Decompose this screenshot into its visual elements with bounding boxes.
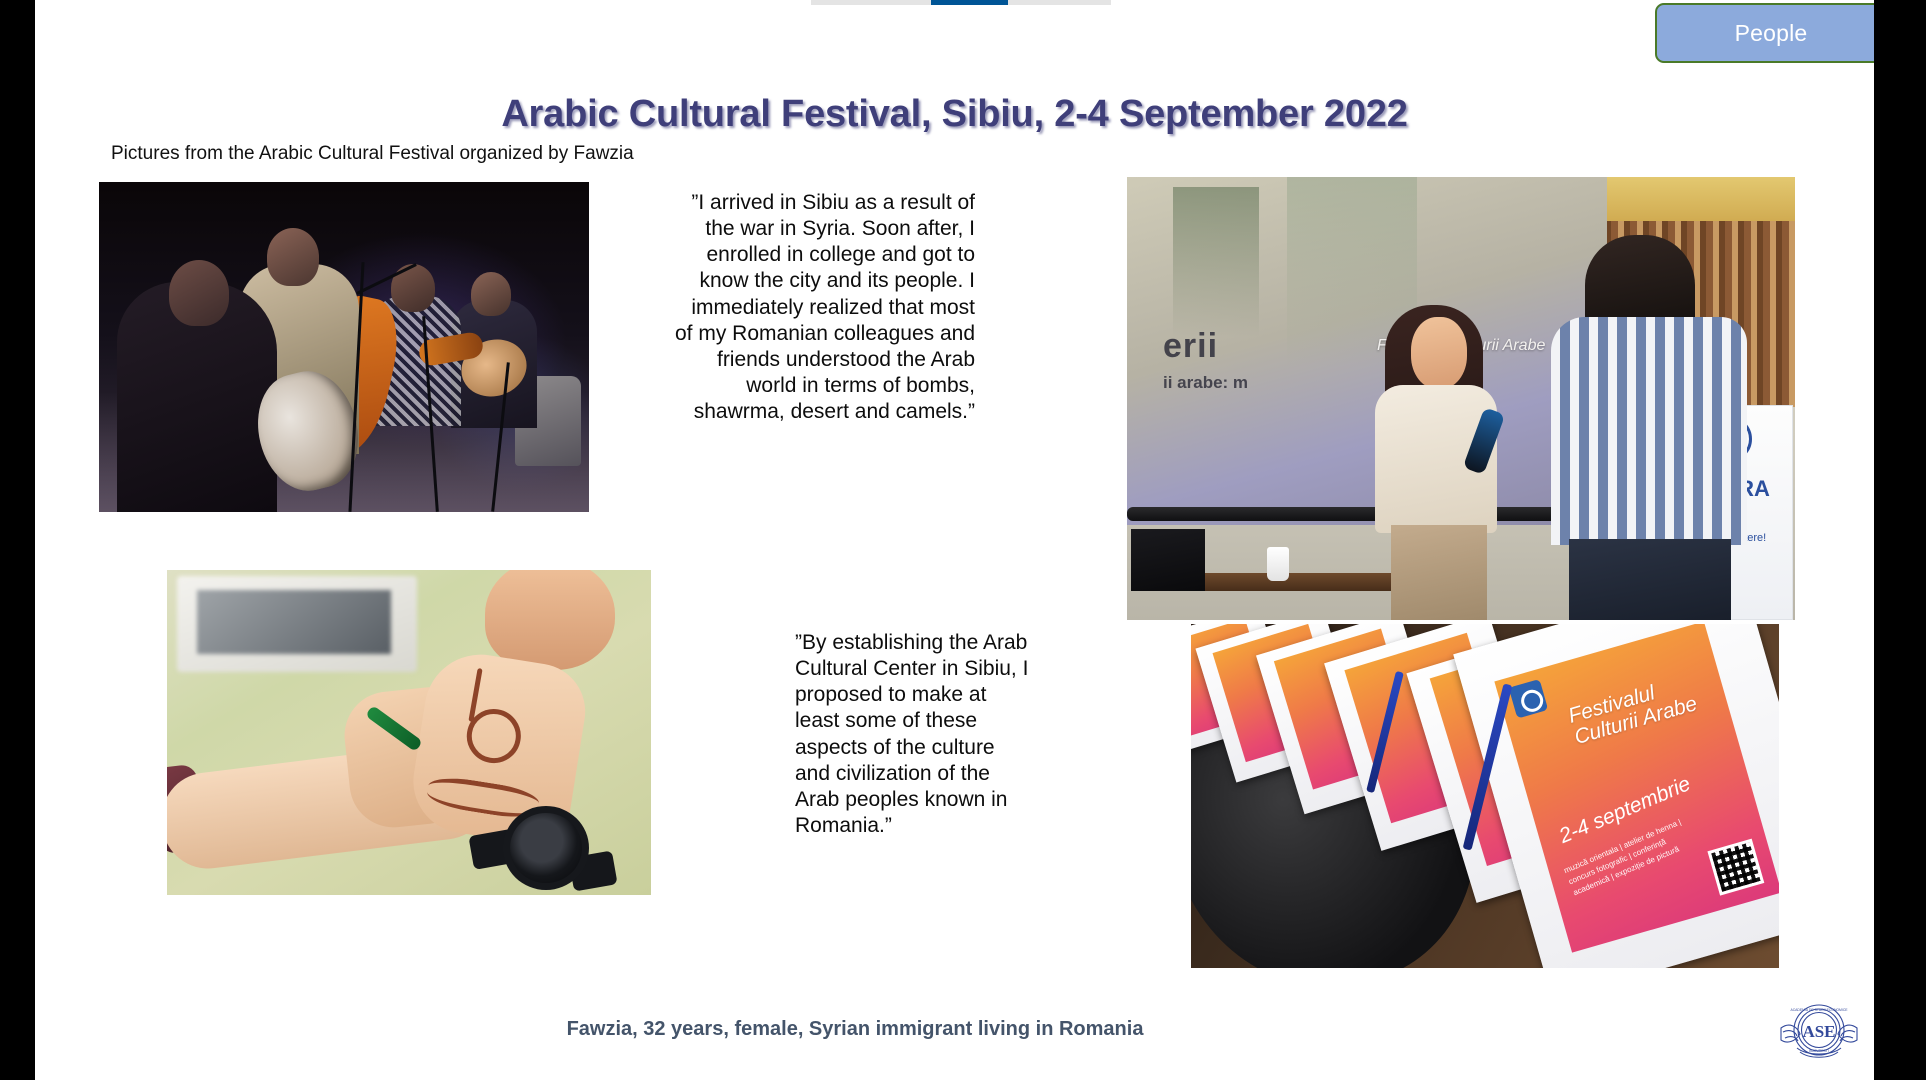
artist-head [485,570,615,670]
pictures-caption: Pictures from the Arabic Cultural Festiv… [111,143,634,165]
slide-progress-fill [931,0,1008,5]
upper-wall-band [1587,177,1795,225]
cellist-head [267,228,319,286]
photo-flyers: Festivalul Culturii Arabe 2-4 septembrie… [1191,624,1779,968]
footer-attribution: Fawzia, 32 years, female, Syrian immigra… [35,1018,1675,1041]
page-title: Arabic Cultural Festival, Sibiu, 2-4 Sep… [35,93,1874,136]
background-picture-frame [177,576,417,672]
projection-screen: erii ii arabe: m Festivalul Culturii Ara… [1127,177,1607,525]
interviewer-striped-shirt [1551,317,1747,545]
screenshot-root: People Arabic Cultural Festival, Sibiu, … [0,0,1926,1080]
paper-cup [1267,547,1289,581]
projected-subline: ii arabe: m [1163,373,1248,393]
laptop [1131,529,1205,591]
svg-text:ASE: ASE [1802,1022,1835,1041]
drummer-head [169,260,229,326]
oud-player-head [471,272,511,316]
slide-progress-indicator[interactable] [811,0,1111,5]
people-button-label: People [1735,20,1808,47]
slide-canvas: People Arabic Cultural Festival, Sibiu, … [35,0,1874,1080]
quote-block-2: ”By establishing the Arab Cultural Cente… [795,630,1035,839]
quote-block-1: ”I arrived in Sibiu as a result of the w… [675,190,975,425]
photo-musicians [99,182,589,512]
festival-logo-icon [1509,679,1549,719]
projected-word: erii [1163,327,1218,366]
university-seal-logo: ASE ACADEMIA DE STUDII ECONOMICE BUCURES… [1767,1000,1871,1068]
flyer-title: Festivalul Culturii Arabe [1566,666,1720,749]
projected-light-beam [1173,187,1259,337]
photo-interview: erii ii arabe: m Festivalul Culturii Ara… [1127,177,1795,620]
qr-code-icon [1707,839,1764,896]
svg-text:BUCURESTI: BUCURESTI [1809,1049,1829,1053]
interviewer-jeans [1569,539,1731,620]
svg-text:ACADEMIA DE STUDII ECONOMICE: ACADEMIA DE STUDII ECONOMICE [1790,1008,1848,1012]
people-button[interactable]: People [1655,3,1874,63]
photo-henna [167,570,651,895]
interviewee-face [1411,317,1467,389]
interviewee-trousers [1391,525,1487,620]
projection-screen-bar [1127,507,1579,521]
smartwatch [503,806,589,890]
